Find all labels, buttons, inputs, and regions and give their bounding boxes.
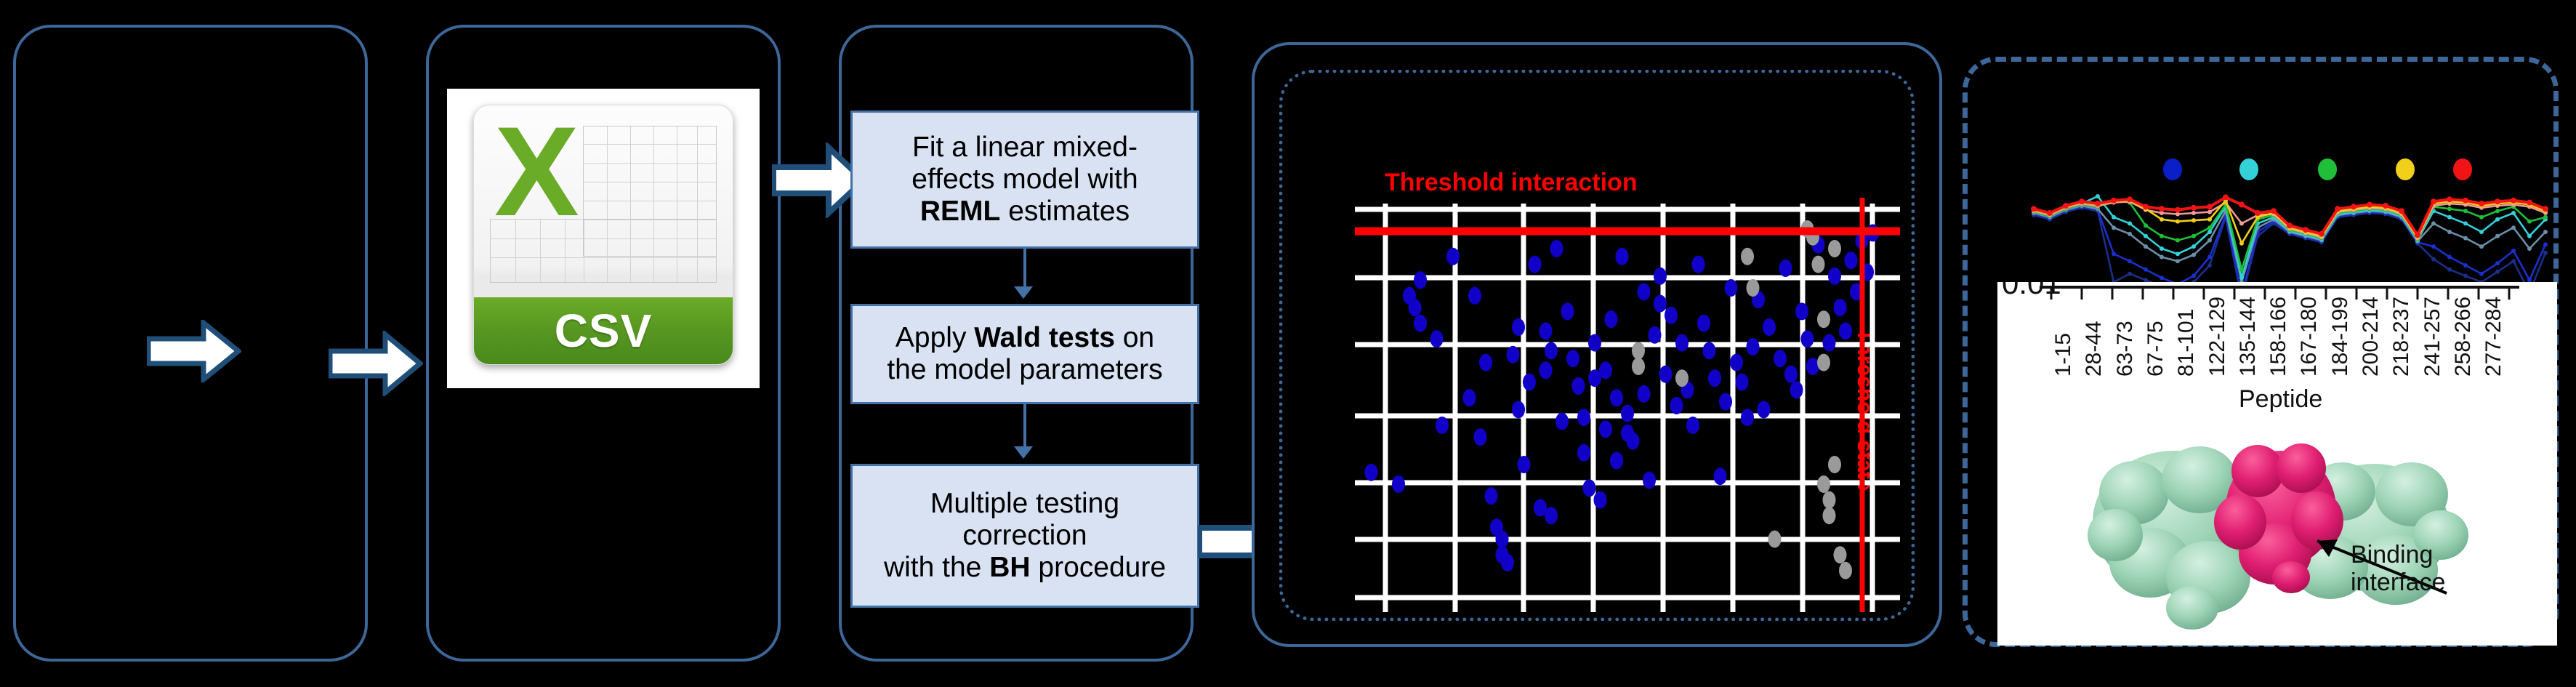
x-tick-label: 277-284	[2482, 297, 2506, 377]
line-marker	[2175, 252, 2180, 256]
line-marker	[2207, 230, 2212, 234]
scatter-point	[1430, 330, 1444, 347]
scatter-point	[1779, 260, 1792, 277]
x-tick-label: 241-257	[2420, 297, 2445, 377]
scatter-point	[1828, 240, 1841, 257]
line-marker	[2144, 244, 2148, 249]
scatter-point	[1594, 491, 1607, 509]
scatter-point	[1817, 310, 1830, 328]
line-marker	[2207, 238, 2212, 243]
scatter-point	[1463, 389, 1476, 406]
line-marker	[2415, 232, 2420, 238]
scatter-point	[1823, 334, 1836, 352]
line-marker	[2495, 270, 2500, 274]
scatter-point	[1817, 354, 1830, 371]
line-marker	[2431, 257, 2436, 261]
line-marker	[2160, 217, 2164, 222]
line-marker	[2223, 194, 2229, 200]
line-marker	[2479, 201, 2484, 206]
line-marker	[2128, 221, 2132, 225]
line-marker	[2543, 206, 2548, 212]
line-marker	[2335, 206, 2340, 212]
x-tick-label: 218-237	[2389, 297, 2414, 377]
line-marker	[2063, 203, 2069, 209]
scatter-point	[1632, 342, 1645, 359]
line-marker	[2511, 259, 2516, 263]
line-marker	[2191, 205, 2197, 211]
line-marker	[2160, 255, 2164, 260]
connector-2-head	[1014, 446, 1033, 459]
line-marker	[2127, 196, 2133, 202]
line-series-t-1	[2034, 201, 2545, 244]
scatter-point	[1725, 279, 1738, 297]
scatter-point	[1468, 287, 1481, 305]
line-marker	[2239, 202, 2245, 208]
line-marker	[2207, 225, 2212, 230]
step-multiple-testing[interactable]: Multiple testingcorrectionwith the BH pr…	[850, 464, 1199, 608]
connector-1	[1023, 249, 1026, 286]
scatter-point	[1610, 389, 1623, 406]
legend-dot-red	[2453, 158, 2472, 180]
scatter-point	[1539, 322, 1553, 340]
step-wald-tests-text: Apply Wald tests onthe model parameters	[857, 322, 1193, 385]
line-marker	[2527, 234, 2532, 238]
line-marker	[2543, 251, 2548, 255]
scatter-point	[1714, 467, 1727, 485]
line-marker	[2239, 241, 2244, 246]
scatter-point	[1834, 299, 1847, 316]
scatter-point	[1670, 397, 1683, 414]
scatter-point	[1479, 354, 1492, 371]
line-marker	[2431, 221, 2436, 225]
scatter-point	[1747, 338, 1760, 355]
line-marker	[2543, 215, 2548, 220]
scatter-point	[1692, 256, 1705, 273]
line-marker	[2191, 273, 2196, 278]
scatter-point	[1605, 310, 1618, 328]
scatter-point	[1828, 456, 1841, 473]
line-marker	[2495, 234, 2500, 238]
x-tick-label: 184-199	[2328, 297, 2353, 377]
line-marker	[2111, 198, 2117, 204]
scatter-point	[1365, 464, 1378, 481]
line-marker	[2543, 230, 2548, 234]
scatter-point	[1741, 409, 1754, 426]
line-marker	[2079, 198, 2085, 204]
scatter-point	[1446, 248, 1460, 265]
line-marker	[2431, 198, 2436, 204]
line-marker	[2144, 223, 2148, 228]
line-marker	[2255, 210, 2261, 216]
scatter-point	[1566, 350, 1579, 367]
scatter-point	[1561, 302, 1574, 320]
line-marker	[2047, 210, 2053, 216]
line-marker	[2479, 244, 2484, 249]
line-marker	[2239, 221, 2244, 225]
scatter-point	[1839, 322, 1852, 340]
line-marker	[2239, 276, 2244, 280]
scatter-point	[1649, 326, 1662, 344]
scatter-point	[1675, 369, 1689, 387]
scatter-point	[1610, 452, 1623, 470]
line-marker	[2399, 208, 2404, 214]
line-marker	[2479, 215, 2484, 220]
line-marker	[2431, 244, 2436, 249]
line-marker	[2191, 234, 2196, 238]
scatter-point	[1474, 428, 1487, 446]
arrow-into-input	[147, 320, 241, 382]
scatter-point	[1654, 295, 1667, 313]
line-marker	[2463, 263, 2468, 268]
line-marker	[2175, 220, 2180, 224]
x-tick-label: 63-73	[2113, 321, 2138, 377]
line-marker	[2175, 207, 2181, 213]
x-tick-label: 122-129	[2205, 297, 2230, 377]
x-tick-label: 81-101	[2174, 309, 2199, 377]
line-marker	[2495, 198, 2500, 204]
line-marker	[2175, 238, 2180, 243]
scatter-point	[1817, 475, 1830, 493]
scatter-point	[1730, 354, 1743, 371]
csv-format-label: CSV	[555, 304, 653, 358]
scatter-point	[1621, 405, 1634, 422]
line-marker	[2144, 268, 2148, 272]
scatter-point	[1741, 248, 1754, 265]
line-marker	[2160, 234, 2164, 238]
line-marker	[2271, 208, 2277, 214]
line-marker	[2511, 211, 2516, 215]
scatter-point	[1758, 401, 1771, 418]
line-marker	[2096, 194, 2100, 198]
legend-dot-cyan	[2239, 158, 2258, 180]
scatter-point	[1834, 546, 1847, 563]
scatter-point	[1638, 283, 1651, 300]
scatter-point	[1507, 346, 1520, 363]
line-marker	[2112, 215, 2116, 220]
line-marker	[2511, 225, 2516, 230]
scatter-point	[1518, 456, 1531, 473]
line-marker	[2543, 242, 2548, 246]
scatter-point	[1823, 491, 1836, 509]
scatter-point	[1436, 417, 1449, 434]
scatter-point	[1736, 374, 1749, 391]
scatter-point	[1496, 531, 1509, 548]
legend-dot-yellow	[2396, 158, 2415, 180]
scatter-point	[1763, 318, 1776, 336]
scatter-point	[1572, 377, 1585, 395]
scatter-point	[1409, 299, 1422, 316]
line-marker	[2031, 206, 2037, 212]
line-marker	[2367, 202, 2372, 208]
scatter-point	[1414, 271, 1427, 289]
line-marker	[2160, 276, 2164, 280]
volcano-scatter	[1355, 198, 1900, 612]
scatter-point	[1845, 252, 1858, 269]
scatter-point	[1686, 417, 1699, 434]
line-marker	[2463, 209, 2468, 213]
scatter-point	[1512, 318, 1525, 336]
line-marker	[2463, 273, 2468, 278]
line-marker	[2479, 272, 2484, 276]
scatter-point	[1659, 366, 1673, 383]
line-marker	[2207, 263, 2212, 268]
line-marker	[2143, 204, 2149, 209]
line-marker	[2527, 246, 2532, 251]
line-marker	[2479, 230, 2484, 234]
legend-dot-navy	[2163, 158, 2182, 180]
line-marker	[2527, 200, 2532, 206]
scatter-point	[1654, 268, 1667, 285]
x-tick-label: 167-180	[2297, 297, 2322, 377]
scatter-point	[1790, 381, 1803, 398]
line-marker	[2463, 198, 2468, 204]
scatter-point	[1577, 409, 1590, 426]
scatter-point	[1627, 433, 1640, 450]
legend-dot-green	[2318, 158, 2337, 180]
line-marker	[2128, 259, 2132, 263]
line-marker	[2159, 206, 2165, 212]
line-marker	[2495, 217, 2500, 222]
line-marker	[2191, 211, 2196, 215]
scatter-point	[1632, 358, 1645, 375]
scatter-point	[1512, 401, 1525, 418]
line-marker	[2207, 217, 2212, 222]
csv-image-card: X CSV	[447, 89, 760, 388]
line-marker	[2239, 268, 2244, 272]
line-marker	[2351, 204, 2356, 209]
binding-interface-line-2: interface	[2351, 569, 2445, 596]
excel-x-glyph: X	[494, 108, 579, 236]
scatter-point	[1529, 256, 1542, 273]
scatter-point	[1414, 315, 1427, 332]
line-marker	[2319, 231, 2325, 237]
step-fit-model[interactable]: Fit a linear mixed-effects model withREM…	[850, 111, 1199, 249]
scatter-point	[1839, 562, 1852, 579]
line-marker	[2447, 230, 2452, 234]
line-marker	[2447, 215, 2452, 220]
step-wald-tests[interactable]: Apply Wald tests onthe model parameters	[850, 304, 1199, 404]
line-marker	[2207, 255, 2212, 260]
line-marker	[2160, 246, 2164, 251]
line-marker	[2447, 206, 2452, 211]
line-marker	[2383, 203, 2388, 209]
scatter-point	[1485, 487, 1498, 505]
scatter-point	[1638, 385, 1651, 403]
connector-2	[1023, 404, 1026, 446]
scatter-point	[1703, 342, 1716, 359]
x-tick-label: 200-214	[2359, 297, 2383, 377]
line-marker	[2207, 210, 2212, 214]
scatter-point	[1823, 507, 1836, 524]
x-tick-label: 258-266	[2451, 297, 2476, 377]
scatter-point	[1392, 475, 1405, 493]
scatter-point	[1812, 256, 1825, 273]
line-marker	[2128, 272, 2132, 276]
scatter-point	[1697, 315, 1710, 332]
connector-1-head	[1014, 286, 1033, 299]
line-marker	[2191, 244, 2196, 249]
line-marker	[2463, 221, 2468, 225]
step-fit-model-text: Fit a linear mixed-effects model withREM…	[857, 132, 1193, 227]
scatter-point	[1583, 479, 1596, 497]
line-marker	[2463, 236, 2468, 241]
scatter-point	[1801, 330, 1814, 347]
binding-interface-line-1: Binding	[2351, 541, 2445, 569]
scatter-point	[1599, 420, 1612, 438]
x-tick-label: 1-15	[2051, 333, 2076, 377]
protein-structure-figure	[2083, 413, 2468, 631]
scatter-point	[1675, 334, 1689, 352]
scatter-point	[1577, 444, 1590, 462]
line-marker	[2303, 227, 2309, 233]
csv-format-band: CSV	[474, 297, 733, 364]
line-marker	[2207, 204, 2213, 209]
x-tick-label: 67-75	[2144, 321, 2168, 377]
x-tick-label: 158-166	[2266, 297, 2291, 377]
scatter-point	[1774, 350, 1787, 367]
scatter-point	[1523, 374, 1536, 391]
line-marker	[2447, 196, 2452, 202]
results-figure-box: 0.01 1-15	[1997, 282, 2557, 646]
scatter-point	[1768, 531, 1782, 548]
scatter-point	[1545, 342, 1558, 359]
scatter-point	[1708, 369, 1721, 387]
x-tick-label: 28-44	[2082, 321, 2106, 377]
step-multiple-testing-text: Multiple testingcorrectionwith the BH pr…	[857, 488, 1193, 583]
arrow-input-to-csv	[329, 331, 423, 396]
scatter-point	[1747, 279, 1760, 297]
line-marker	[2287, 222, 2293, 228]
scatter-point	[1616, 248, 1629, 265]
line-marker	[2495, 209, 2500, 213]
x-tick-label: 135-144	[2236, 297, 2261, 377]
scatter-point	[1501, 554, 1514, 571]
line-marker	[2175, 259, 2180, 263]
line-marker	[2112, 252, 2116, 256]
scatter-point	[1784, 366, 1798, 383]
line-marker	[2527, 220, 2532, 224]
scatter-point	[1719, 393, 1732, 411]
scatter-point	[1545, 507, 1558, 524]
line-marker	[2144, 234, 2148, 238]
line-marker	[2191, 218, 2196, 222]
line-marker	[2511, 198, 2516, 204]
line-marker	[2112, 225, 2116, 230]
x-axis-tick-labels: 1-1528-4463-7367-7581-101122-129135-1441…	[1997, 282, 2557, 398]
line-marker	[2447, 255, 2452, 260]
line-marker	[2191, 253, 2196, 257]
scatter-point	[1539, 361, 1553, 379]
line-marker	[2095, 201, 2101, 206]
scatter-point	[1665, 307, 1678, 324]
line-marker	[2495, 261, 2500, 265]
line-marker	[2511, 249, 2516, 253]
scatter-point	[1828, 268, 1841, 285]
binding-interface-annotation: Binding interface	[2351, 541, 2445, 596]
x-axis-caption: Peptide	[2239, 385, 2322, 414]
scatter-point	[1555, 413, 1569, 430]
scatter-point	[1795, 302, 1808, 320]
flowchart-root: X CSV Fit a linear mixed-effects model w…	[0, 0, 2576, 687]
line-marker	[2128, 232, 2132, 236]
scatter-point	[1599, 361, 1612, 379]
csv-file-icon: X CSV	[473, 105, 733, 365]
scatter-point	[1588, 334, 1601, 352]
scatter-point	[1550, 240, 1563, 257]
scatter-point	[1643, 472, 1656, 489]
threshold-interaction-label: Threshold interaction	[1385, 169, 1638, 197]
line-marker	[2447, 268, 2452, 272]
